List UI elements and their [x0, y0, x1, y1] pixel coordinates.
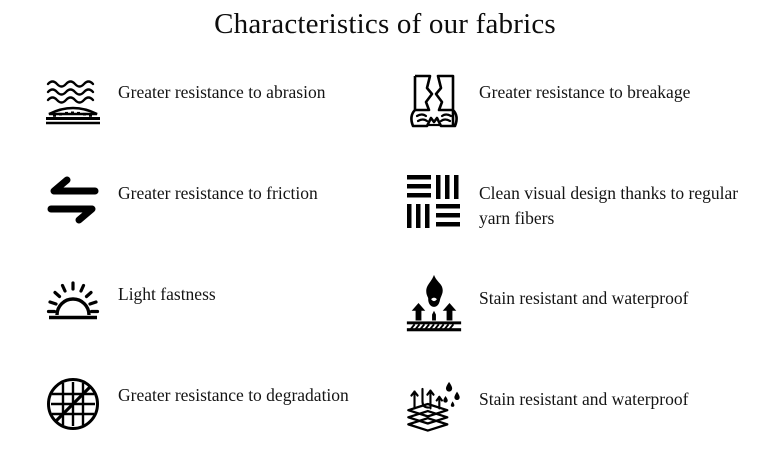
- rising-sun-icon: [42, 272, 104, 334]
- feature-item-stain-resistant-water: Stain resistant and waterproof: [385, 373, 770, 457]
- feature-item-degradation: Greater resistance to degradation: [0, 373, 385, 457]
- feature-label: Stain resistant and waterproof: [479, 272, 688, 311]
- feature-item-abrasion: Greater resistance to abrasion: [0, 70, 385, 171]
- feature-label: Greater resistance to breakage: [479, 70, 690, 105]
- features-grid: Greater resistance to abrasion Greater: [0, 70, 770, 457]
- water-repellent-layers-icon: [403, 373, 465, 435]
- feature-label: Greater resistance to friction: [118, 171, 318, 206]
- flame-repellent-fabric-icon: [403, 272, 465, 334]
- feature-label: Clean visual design thanks to regular ya…: [479, 171, 749, 231]
- feature-item-stain-resistant-flame: Stain resistant and waterproof: [385, 272, 770, 373]
- feature-item-friction: Greater resistance to friction: [0, 171, 385, 272]
- tearing-hands-icon: [403, 70, 465, 132]
- feature-label: Greater resistance to abrasion: [118, 70, 325, 105]
- feature-label: Stain resistant and waterproof: [479, 373, 688, 412]
- opposing-arrows-icon: [42, 171, 104, 233]
- woven-weave-icon: [403, 171, 465, 233]
- feature-label: Greater resistance to degradation: [118, 373, 349, 408]
- feature-item-light-fastness: Light fastness: [0, 272, 385, 373]
- abrasion-waves-icon: [42, 70, 104, 132]
- feature-label: Light fastness: [118, 272, 216, 307]
- feature-item-clean-visual-design: Clean visual design thanks to regular ya…: [385, 171, 770, 272]
- page-title: Characteristics of our fabrics: [0, 8, 770, 41]
- fabric-characteristics-page: Characteristics of our fabrics: [0, 0, 770, 457]
- feature-item-breakage: Greater resistance to breakage: [385, 70, 770, 171]
- crossed-out-mesh-icon: [42, 373, 104, 435]
